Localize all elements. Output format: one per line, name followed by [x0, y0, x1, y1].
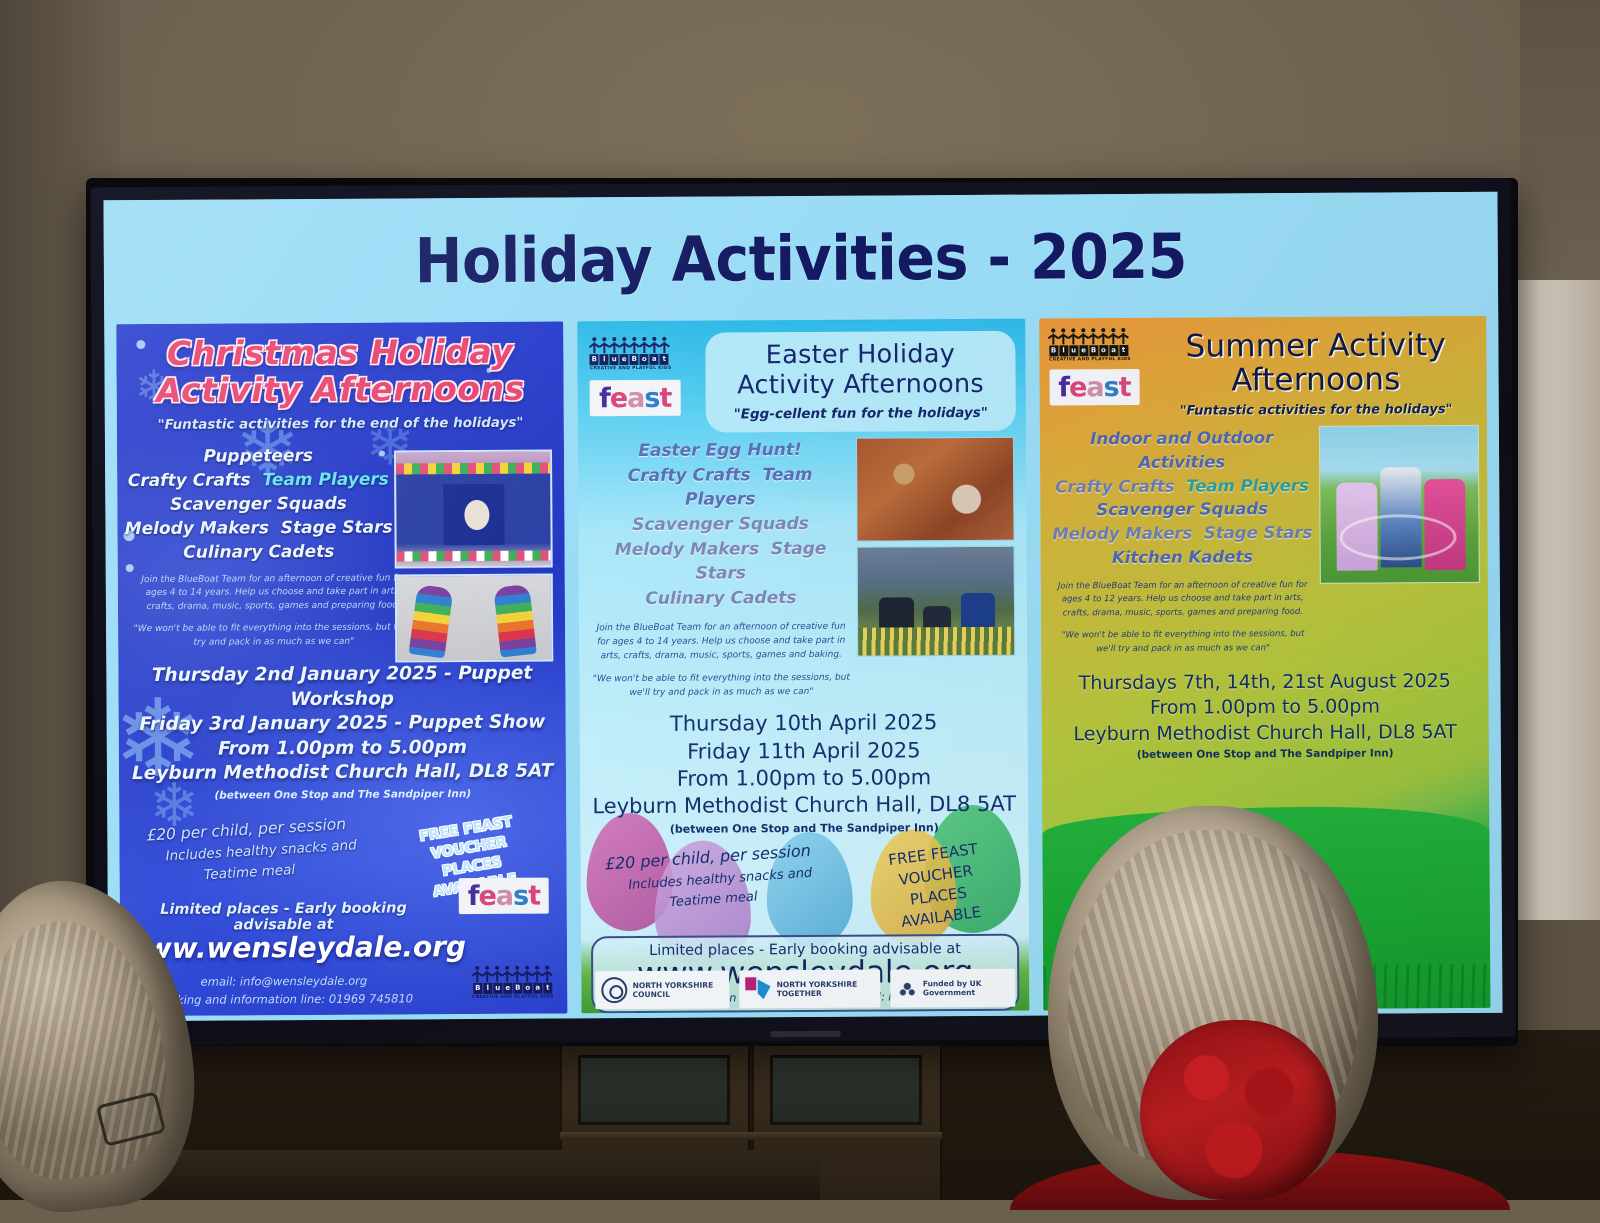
blueboat-logo-easter: B l u e B o a t CREATIVE AND PLAYFUL KID… [590, 337, 702, 372]
poster-easter[interactable]: B l u e B o a t CREATIVE AND PLAYFUL KID… [578, 319, 1030, 1014]
christmas-venue-note: (between One Stop and The Sandpiper Inn) [119, 787, 566, 802]
summer-left-column: Indoor and Outdoor Activities Crafty Cra… [1050, 426, 1316, 657]
activity-item: Crafty Crafts [628, 465, 751, 486]
easter-left-column: Easter Egg Hunt! Crafty Crafts Team Play… [590, 438, 851, 702]
feast-logo-christmas: feast [459, 878, 550, 915]
christmas-title: Christmas Holiday Activity Afternoons [116, 333, 564, 410]
summer-header: B l u e B o a t CREATIVE AND PLAYFUL KID… [1039, 316, 1487, 420]
activity-item: Puppeteers [203, 446, 313, 467]
easter-body-paragraph-1: Join the BlueBoat Team for an afternoon … [591, 620, 851, 663]
activity-item: Easter Egg Hunt! [638, 440, 801, 461]
activity-item: Kitchen Kadets [1112, 547, 1253, 567]
activity-item: Culinary Cadets [645, 588, 796, 609]
partner-uk-government: Funded by UK Government [890, 969, 1015, 1008]
christmas-time: From 1.00pm to 5.00pm [119, 735, 566, 762]
door-glass-right [770, 1055, 922, 1125]
summer-dates: Thursdays 7th, 14th, 21st August 2025 Fr… [1041, 668, 1489, 747]
easter-title-line1: Easter Holiday [716, 339, 1006, 371]
christmas-subtitle: "Funtastic activities for the end of the… [117, 414, 564, 433]
easter-date-1: Thursday 10th April 2025 [580, 709, 1027, 739]
blueboat-logo-summer: B l u e B o a t CREATIVE AND PLAYFUL KID… [1049, 328, 1153, 363]
north-yorkshire-council-icon [602, 977, 628, 1003]
summer-logo-block: B l u e B o a t CREATIVE AND PLAYFUL KID… [1049, 328, 1154, 420]
easter-logo-block: B l u e B o a t CREATIVE AND PLAYFUL KID… [590, 333, 703, 416]
activity-item: Team Players [1186, 476, 1309, 496]
blueboat-tagline: CREATIVE AND PLAYFUL KIDS [1049, 358, 1131, 363]
christmas-title-line1: Christmas Holiday [116, 333, 564, 373]
children-hoops-photo [1319, 425, 1480, 584]
easter-voucher-badge: FREE FEAST VOUCHER PLACES AVAILABLE [865, 835, 1010, 936]
christmas-dates: Thursday 2nd January 2025 - Puppet Works… [118, 661, 566, 787]
christmas-website-url[interactable]: www.wensleydale.org [120, 929, 568, 965]
easter-venue: Leyburn Methodist Church Hall, DL8 5AT [580, 791, 1027, 821]
easter-time: From 1.00pm to 5.00pm [580, 764, 1027, 794]
feast-logo-summer: feast [1049, 368, 1153, 405]
christmas-date-2: Friday 3rd January 2025 - Puppet Show [119, 711, 566, 738]
slide-title: Holiday Activities - 2025 [159, 192, 1442, 324]
summer-venue: Leyburn Methodist Church Hall, DL8 5AT [1041, 719, 1488, 747]
summer-time: From 1.00pm to 5.00pm [1041, 694, 1488, 722]
blueboat-logo-christmas: B l u e B o a t CREATIVE AND PLAYFUL KID… [472, 965, 554, 1000]
easter-body: Join the BlueBoat Team for an afternoon … [591, 620, 851, 701]
christmas-title-line2: Activity Afternoons [117, 370, 565, 410]
partner-north-yorkshire-council: NORTH YORKSHIRE COUNCIL [596, 971, 730, 1010]
activity-item: Scavenger Squads [1096, 500, 1268, 520]
easter-activities-list: Easter Egg Hunt! Crafty Crafts Team Play… [590, 438, 850, 612]
partner-label: NORTH YORKSHIRE COUNCIL [633, 980, 724, 999]
easter-title-line2: Activity Afternoons [716, 369, 1006, 401]
summer-body-paragraph-1: Join the BlueBoat Team for an afternoon … [1050, 579, 1315, 621]
sock-puppet-right [494, 584, 538, 658]
sock-puppets-photo [395, 574, 554, 663]
feast-wordmark: feast [1049, 368, 1140, 405]
puppet-show-photo [394, 450, 553, 569]
easter-photo-column [856, 437, 1018, 700]
summer-body-paragraph-2: "We won't be able to fit everything into… [1051, 628, 1315, 657]
uk-government-crown-icon [896, 978, 918, 998]
summer-title: Summer Activity Afternoons [1153, 328, 1479, 398]
summer-body: Join the BlueBoat Team for an afternoon … [1050, 579, 1315, 658]
activity-item: Stage Stars [281, 518, 393, 539]
summer-activities-list: Indoor and Outdoor Activities Crafty Cra… [1050, 426, 1315, 570]
daffodils [858, 627, 1014, 656]
activity-item: Crafty Crafts [128, 470, 251, 491]
summer-title-line2: Afternoons [1153, 362, 1479, 398]
activity-item: Crafty Crafts [1055, 476, 1174, 496]
partner-label: Funded by UK Government [923, 978, 1009, 997]
christmas-body-paragraph-1: Join the BlueBoat Team for an afternoon … [132, 572, 416, 614]
north-yorkshire-together-icon [746, 977, 772, 1001]
partner-north-yorkshire-together: NORTH YORKSHIRE TOGETHER [740, 970, 880, 1009]
activity-item: Melody Makers [1052, 524, 1192, 544]
summer-date-1: Thursdays 7th, 14th, 21st August 2025 [1041, 668, 1488, 696]
summer-title-line1: Summer Activity [1153, 328, 1479, 364]
easter-header: B l u e B o a t CREATIVE AND PLAYFUL KID… [578, 319, 1026, 434]
activity-item: Scavenger Squads [632, 514, 809, 535]
summer-middle: Indoor and Outdoor Activities Crafty Cra… [1039, 417, 1488, 657]
easter-title-box: Easter Holiday Activity Afternoons "Egg-… [706, 331, 1016, 433]
feast-logo-easter: feast [590, 379, 702, 416]
easter-title: Easter Holiday Activity Afternoons [716, 339, 1006, 401]
easter-date-2: Friday 11th April 2025 [580, 736, 1027, 766]
activity-item: Culinary Cadets [183, 542, 334, 563]
easter-subtitle: "Egg-cellent fun for the holidays" [716, 405, 1005, 423]
easter-body-paragraph-2: "We won't be able to fit everything into… [592, 672, 851, 701]
puppet-theatre-trim [397, 551, 551, 562]
wall-right-upper [1520, 0, 1600, 290]
activity-item: Melody Makers [125, 519, 269, 540]
crafts-table-photo [856, 437, 1015, 542]
easter-price-row: £20 per child, per session Includes heal… [581, 833, 1029, 930]
red-hair-scrunchie [1140, 1020, 1336, 1200]
easter-dates: Thursday 10th April 2025 Friday 11th Apr… [580, 709, 1028, 821]
blueboat-figures: B l u e B o a t [473, 965, 552, 993]
christmas-date-1: Thursday 2nd January 2025 - Puppet Works… [118, 661, 566, 713]
activity-item: Scavenger Squads [170, 494, 347, 515]
easter-price: £20 per child, per session Includes heal… [604, 838, 816, 936]
puppet-figure [464, 500, 489, 530]
blueboat-figures: B l u e B o a t [1049, 328, 1128, 356]
blueboat-figures: B l u e B o a t [590, 337, 669, 365]
daffodils-children-photo [856, 546, 1015, 657]
activity-item: Team Players [262, 470, 389, 491]
activity-item: Indoor and Outdoor Activities [1090, 428, 1273, 472]
easter-partner-logos: NORTH YORKSHIRE COUNCIL NORTH YORKSHIRE … [582, 969, 1030, 1010]
baseboard [120, 1150, 820, 1200]
activity-item: Stage Stars [1204, 523, 1313, 543]
feast-wordmark: feast [459, 878, 550, 915]
poster-christmas[interactable]: ❄ ❄ ❄ ❄ ❄ Christmas Holiday Activity [116, 321, 568, 1016]
summer-venue-note: (between One Stop and The Sandpiper Inn) [1042, 747, 1489, 762]
partner-label: NORTH YORKSHIRE TOGETHER [777, 979, 874, 998]
christmas-venue: Leyburn Methodist Church Hall, DL8 5AT [119, 760, 566, 787]
activity-item: Melody Makers [615, 539, 759, 560]
door-rail [560, 1132, 942, 1140]
blueboat-tagline: CREATIVE AND PLAYFUL KIDS [590, 367, 672, 372]
puppet-theatre-trim [396, 463, 550, 474]
christmas-body: Join the BlueBoat Team for an afternoon … [132, 572, 416, 650]
blueboat-tagline: CREATIVE AND PLAYFUL KIDS [472, 995, 554, 1000]
easter-middle: Easter Egg Hunt! Crafty Crafts Team Play… [578, 431, 1027, 702]
summer-title-wrap: Summer Activity Afternoons "Funtastic ac… [1153, 326, 1479, 419]
sock-puppet-left [409, 584, 454, 658]
christmas-body-paragraph-2: "We won't be able to fit everything into… [132, 621, 415, 650]
christmas-price: £20 per child, per session Includes heal… [146, 810, 399, 888]
feast-wordmark: feast [590, 379, 681, 416]
door-glass-left [578, 1055, 730, 1125]
